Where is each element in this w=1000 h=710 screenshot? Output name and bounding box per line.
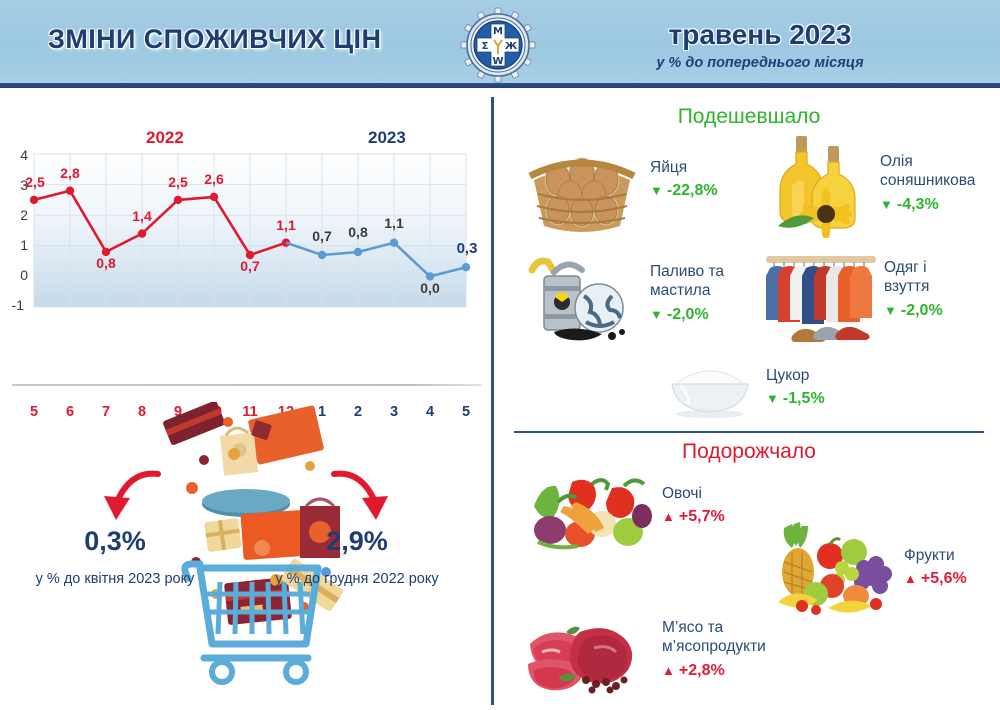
curved-arrow-down-left-icon	[92, 468, 162, 528]
fuel-and-oil-icon	[524, 252, 636, 342]
cpi-line-chart: 2022 2023 4 3 2 1 0 -1	[0, 92, 491, 342]
point-label-2: 0,8	[91, 255, 121, 271]
right-panel-divider	[514, 431, 984, 433]
item-eggs-change: ▼-22,8%	[650, 182, 760, 200]
chart-plot	[0, 92, 491, 342]
point-label-1: 2,8	[55, 165, 85, 181]
clothing-and-footwear-icon	[762, 248, 880, 344]
summary-right-caption: у % до грудня 2022 року	[272, 570, 442, 590]
item-meat-change: ▲+2,8%	[662, 662, 802, 680]
item-fruits-change: ▲+5,6%	[904, 570, 1000, 588]
item-clothing-and-footwear-change: ▼-2,0%	[884, 302, 996, 320]
item-sugar-change: ▼-1,5%	[766, 390, 866, 408]
sunflower-oil-icon	[770, 130, 878, 238]
svg-text:W: W	[492, 56, 503, 67]
item-vegetables: Овочі ▲+5,7%	[662, 484, 772, 526]
cheaper-section-title: Подешевшало	[514, 105, 984, 129]
item-meat: М’ясо та м’ясопродукти ▲+2,8%	[662, 618, 802, 680]
summary-left-caption: у % до квітня 2023 року	[30, 570, 200, 590]
meat-icon	[524, 618, 650, 698]
page-header: ЗМІНИ СПОЖИВЧИХ ЦІН	[0, 0, 1000, 88]
report-subtitle: у % до попереднього місяця	[600, 55, 920, 71]
point-label-9: 0,8	[343, 224, 373, 240]
point-label-7: 1,1	[271, 217, 301, 233]
fruits-icon	[772, 520, 896, 620]
item-clothing-and-footwear: Одяг і взуття ▼-2,0%	[884, 258, 996, 320]
point-label-4: 2,5	[163, 174, 193, 190]
svg-text:Ж: Ж	[505, 41, 518, 52]
left-panel-divider	[12, 384, 482, 386]
point-label-6: 0,7	[235, 258, 265, 274]
summary-left-value: 0,3%	[45, 526, 185, 557]
point-label-3: 1,4	[127, 208, 157, 224]
item-eggs-label: Яйця	[650, 158, 760, 177]
point-label-5: 2,6	[199, 171, 229, 187]
state-statistics-service-emblem: M Σ Ж W	[460, 7, 536, 83]
item-fuel-and-oil-change: ▼-2,0%	[650, 306, 765, 324]
item-vegetables-label: Овочі	[662, 484, 772, 503]
item-meat-label: М’ясо та м’ясопродукти	[662, 618, 802, 657]
item-sunflower-oil-label: Олія соняшникова	[880, 152, 998, 191]
item-sugar: Цукор ▼-1,5%	[766, 366, 866, 408]
item-fruits: Фрукти ▲+5,6%	[904, 546, 1000, 588]
item-sugar-label: Цукор	[766, 366, 866, 385]
item-vegetables-change: ▲+5,7%	[662, 508, 772, 526]
report-month: травень 2023	[600, 19, 920, 51]
point-label-10: 1,1	[379, 215, 409, 231]
item-fuel-and-oil: Паливо та мастила ▼-2,0%	[650, 262, 765, 324]
item-sunflower-oil-change: ▼-4,3%	[880, 196, 998, 214]
item-sunflower-oil: Олія соняшникова ▼-4,3%	[880, 152, 998, 214]
svg-text:Σ: Σ	[482, 41, 489, 52]
point-label-0: 2,5	[20, 174, 50, 190]
curved-arrow-down-right-icon	[330, 468, 400, 528]
eggs-basket-icon	[524, 140, 640, 236]
point-label-8: 0,7	[307, 228, 337, 244]
triangle-up-icon: ▲	[662, 509, 675, 524]
summary-right-value: 2,9%	[287, 526, 427, 557]
triangle-down-icon: ▼	[884, 303, 897, 318]
sugar-bowl-icon	[662, 358, 758, 420]
triangle-down-icon: ▼	[880, 197, 893, 212]
point-label-12: 0,3	[451, 240, 483, 257]
item-fruits-label: Фрукти	[904, 546, 1000, 565]
triangle-down-icon: ▼	[766, 391, 779, 406]
triangle-up-icon: ▲	[662, 663, 675, 678]
page-title: ЗМІНИ СПОЖИВЧИХ ЦІН	[48, 24, 448, 55]
pricier-section-title: Подорожчало	[514, 440, 984, 464]
triangle-down-icon: ▼	[650, 307, 663, 322]
item-fuel-and-oil-label: Паливо та мастила	[650, 262, 765, 301]
item-clothing-and-footwear-label: Одяг і взуття	[884, 258, 996, 297]
item-eggs: Яйця ▼-22,8%	[650, 158, 760, 200]
triangle-up-icon: ▲	[904, 571, 917, 586]
vertical-divider	[491, 97, 494, 705]
svg-text:M: M	[493, 26, 503, 37]
summary-block: 0,3% у % до квітня 2023 року 2,9% у % до…	[0, 392, 491, 710]
triangle-down-icon: ▼	[650, 183, 663, 198]
point-label-11: 0,0	[415, 280, 445, 296]
vegetables-icon	[524, 472, 652, 556]
